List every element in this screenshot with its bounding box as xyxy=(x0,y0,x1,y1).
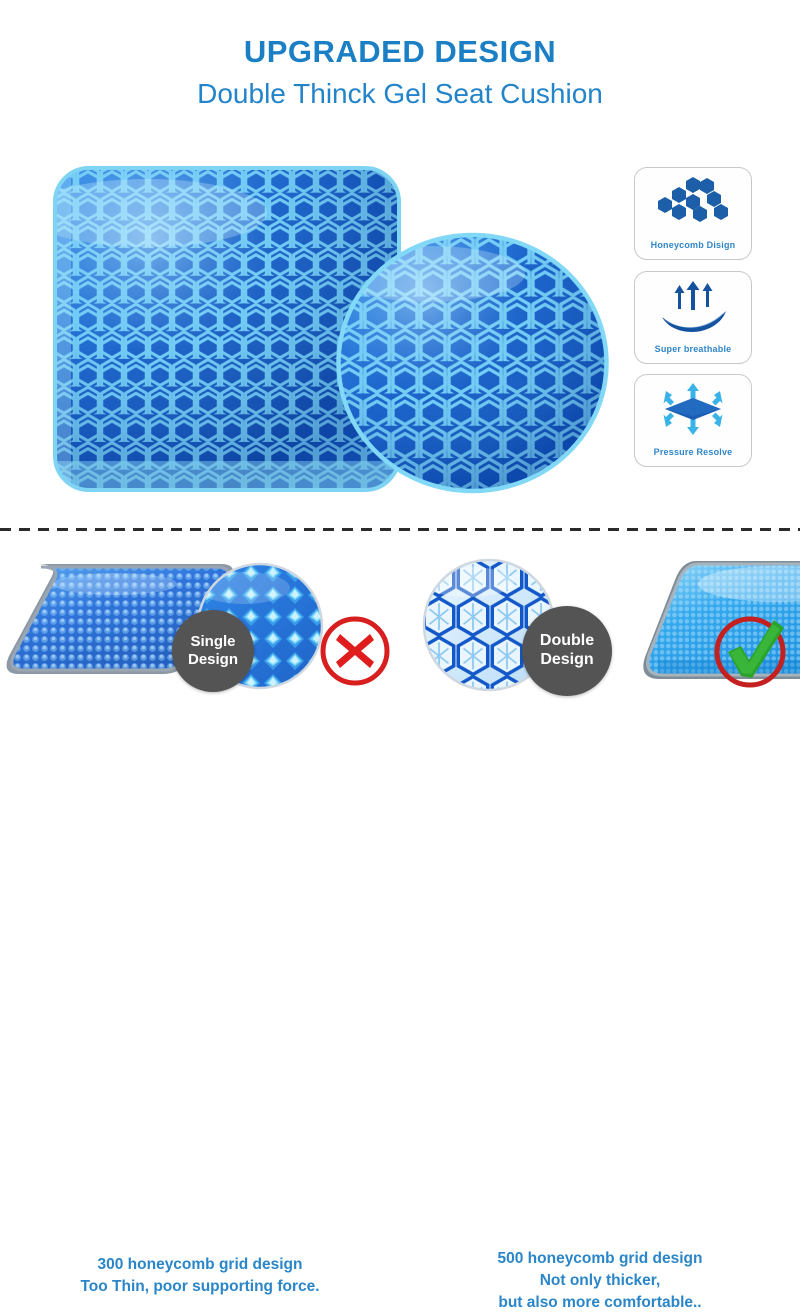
feature-label: Super breathable xyxy=(635,344,751,354)
caption-line: Not only thicker, xyxy=(400,1270,800,1292)
feature-card-honeycomb[interactable]: Honeycomb Disign xyxy=(634,167,752,260)
feature-label: Honeycomb Disign xyxy=(635,240,751,250)
badge-line-2: Design xyxy=(540,651,593,670)
round-gel-seat-cushion xyxy=(335,232,610,494)
caption-double: 500 honeycomb grid design Not only thick… xyxy=(400,1248,800,1314)
breathable-arrows-icon xyxy=(650,279,736,333)
check-mark-icon xyxy=(708,608,792,692)
page-subtitle: Double Thinck Gel Seat Cushion xyxy=(0,78,800,110)
caption-line: Too Thin, poor supporting force. xyxy=(0,1276,400,1298)
badge-double-design: Double Design xyxy=(522,606,612,696)
caption-line: 300 honeycomb grid design xyxy=(0,1254,400,1276)
badge-line-1: Single xyxy=(190,633,235,651)
caption-single: 300 honeycomb grid design Too Thin, poor… xyxy=(0,1254,400,1298)
cross-mark-icon xyxy=(318,614,392,688)
comparison-panel-double: Double Design 500 honeycomb grid design … xyxy=(400,548,800,800)
product-infographic: UPGRADED DESIGN Double Thinck Gel Seat C… xyxy=(0,0,800,800)
badge-line-2: Design xyxy=(188,651,238,669)
honeycomb-icon xyxy=(650,175,736,229)
badge-line-1: Double xyxy=(540,632,594,651)
caption-line: but also more comfortable.. xyxy=(400,1292,800,1314)
pressure-diamond-icon xyxy=(650,382,736,436)
comparison-panel-single: Single Design 300 honeycomb grid design … xyxy=(0,548,400,800)
feature-card-pressure[interactable]: Pressure Resolve xyxy=(634,374,752,467)
page-title: UPGRADED DESIGN xyxy=(0,34,800,70)
feature-label: Pressure Resolve xyxy=(635,447,751,457)
section-divider xyxy=(0,528,800,531)
feature-card-breathable[interactable]: Super breathable xyxy=(634,271,752,364)
feature-card-list: Honeycomb Disign Super breathable xyxy=(634,167,752,467)
caption-line: 500 honeycomb grid design xyxy=(400,1248,800,1270)
badge-single-design: Single Design xyxy=(172,610,254,692)
